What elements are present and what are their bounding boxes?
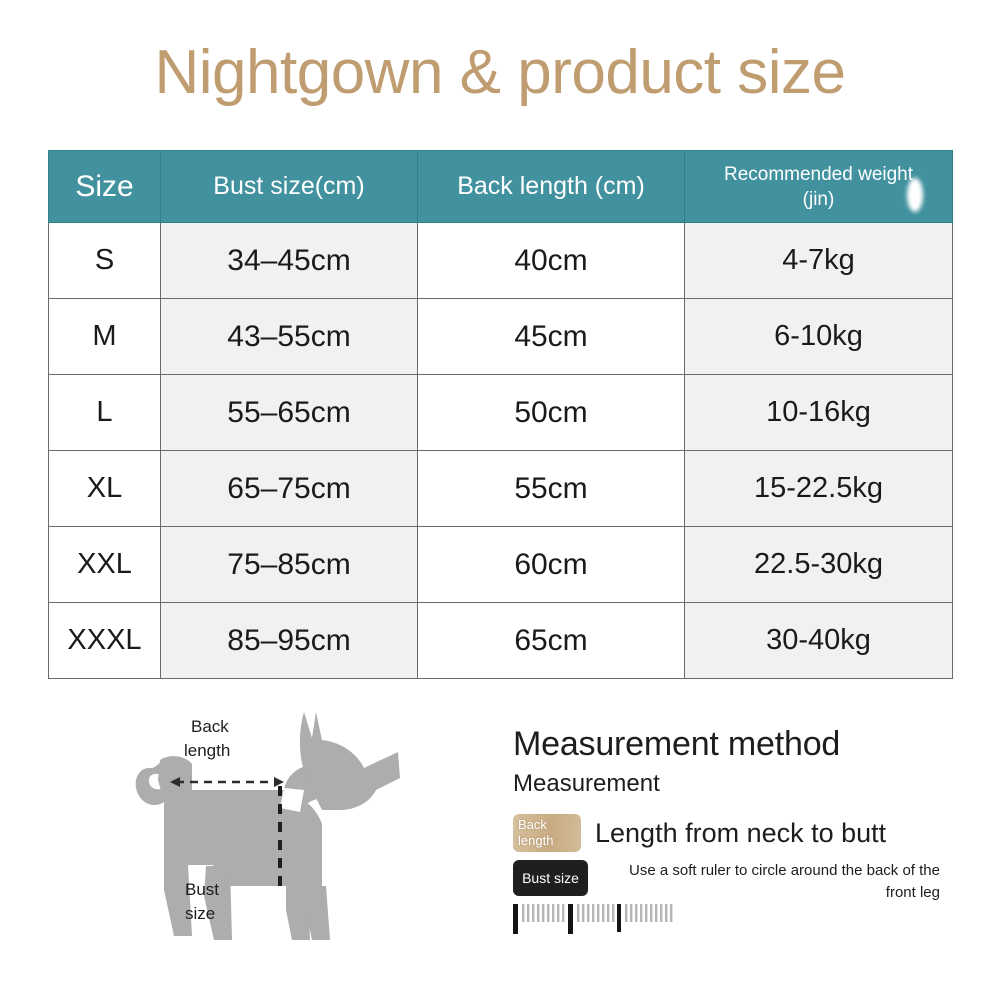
dog-silhouette-icon — [136, 712, 400, 940]
dog-bust-size-label-line2: size — [185, 904, 215, 923]
size-chart-table: Size Bust size(cm) Back length (cm) Reco… — [48, 150, 953, 679]
cell-size: XL — [49, 451, 161, 527]
ruler-icon — [513, 902, 693, 941]
dog-back-length-label-line2: length — [184, 741, 230, 760]
dog-bust-size-label-line1: Bust — [185, 880, 219, 899]
arrow-right-icon — [274, 777, 284, 787]
column-header-back-length: Back length (cm) — [418, 151, 685, 223]
back-length-row: Back length Length from neck to butt — [513, 814, 943, 852]
measurement-subheading: Measurement — [513, 768, 943, 800]
table-row: S 34–45cm 40cm 4-7kg — [49, 223, 953, 299]
cell-bust: 34–45cm — [161, 223, 418, 299]
cell-weight: 15-22.5kg — [685, 451, 953, 527]
table-row: M 43–55cm 45cm 6-10kg — [49, 299, 953, 375]
back-length-description: Length from neck to butt — [595, 817, 886, 849]
cell-back: 60cm — [418, 527, 685, 603]
bust-size-badge: Bust size — [513, 860, 588, 896]
measurement-method-heading: Measurement method — [513, 724, 943, 764]
bust-size-description: Use a soft ruler to circle around the ba… — [602, 860, 940, 904]
cell-weight: 6-10kg — [685, 299, 953, 375]
cell-size: XXL — [49, 527, 161, 603]
white-oval-artifact — [907, 178, 923, 212]
back-length-badge-line2: length — [518, 833, 581, 849]
table-row: XXL 75–85cm 60cm 22.5-30kg — [49, 527, 953, 603]
cell-bust: 85–95cm — [161, 603, 418, 679]
cell-bust: 43–55cm — [161, 299, 418, 375]
cell-size: XXXL — [49, 603, 161, 679]
measurement-method-block: Measurement method Measurement Back leng… — [513, 724, 943, 904]
table-row: L 55–65cm 50cm 10-16kg — [49, 375, 953, 451]
column-header-recommended-weight-line2: (jin) — [803, 189, 835, 210]
column-header-recommended-weight-line1: Recommended weight — [724, 164, 913, 185]
column-header-bust-size: Bust size(cm) — [161, 151, 418, 223]
cell-weight: 4-7kg — [685, 223, 953, 299]
cell-size: S — [49, 223, 161, 299]
cell-back: 55cm — [418, 451, 685, 527]
cell-back: 45cm — [418, 299, 685, 375]
cell-back: 50cm — [418, 375, 685, 451]
page-title: Nightgown & product size — [0, 34, 1000, 112]
cell-back: 65cm — [418, 603, 685, 679]
cell-weight: 30-40kg — [685, 603, 953, 679]
table-header-row: Size Bust size(cm) Back length (cm) Reco… — [49, 151, 953, 223]
table-row: XL 65–75cm 55cm 15-22.5kg — [49, 451, 953, 527]
cell-bust: 55–65cm — [161, 375, 418, 451]
cell-size: L — [49, 375, 161, 451]
back-length-badge: Back length — [513, 814, 581, 852]
cell-weight: 10-16kg — [685, 375, 953, 451]
table-row: XXXL 85–95cm 65cm 30-40kg — [49, 603, 953, 679]
column-header-size: Size — [49, 151, 161, 223]
cell-weight: 22.5-30kg — [685, 527, 953, 603]
dog-back-length-label-line1: Back — [191, 717, 229, 736]
cell-bust: 75–85cm — [161, 527, 418, 603]
cell-size: M — [49, 299, 161, 375]
cell-bust: 65–75cm — [161, 451, 418, 527]
bust-size-row: Bust size Use a soft ruler to circle aro… — [513, 860, 943, 904]
cell-back: 40cm — [418, 223, 685, 299]
back-length-badge-line1: Back — [518, 817, 581, 833]
dog-diagram: Back length Bust size — [108, 690, 448, 980]
measurement-section: Back length Bust size Measurement method… — [0, 690, 1000, 1000]
